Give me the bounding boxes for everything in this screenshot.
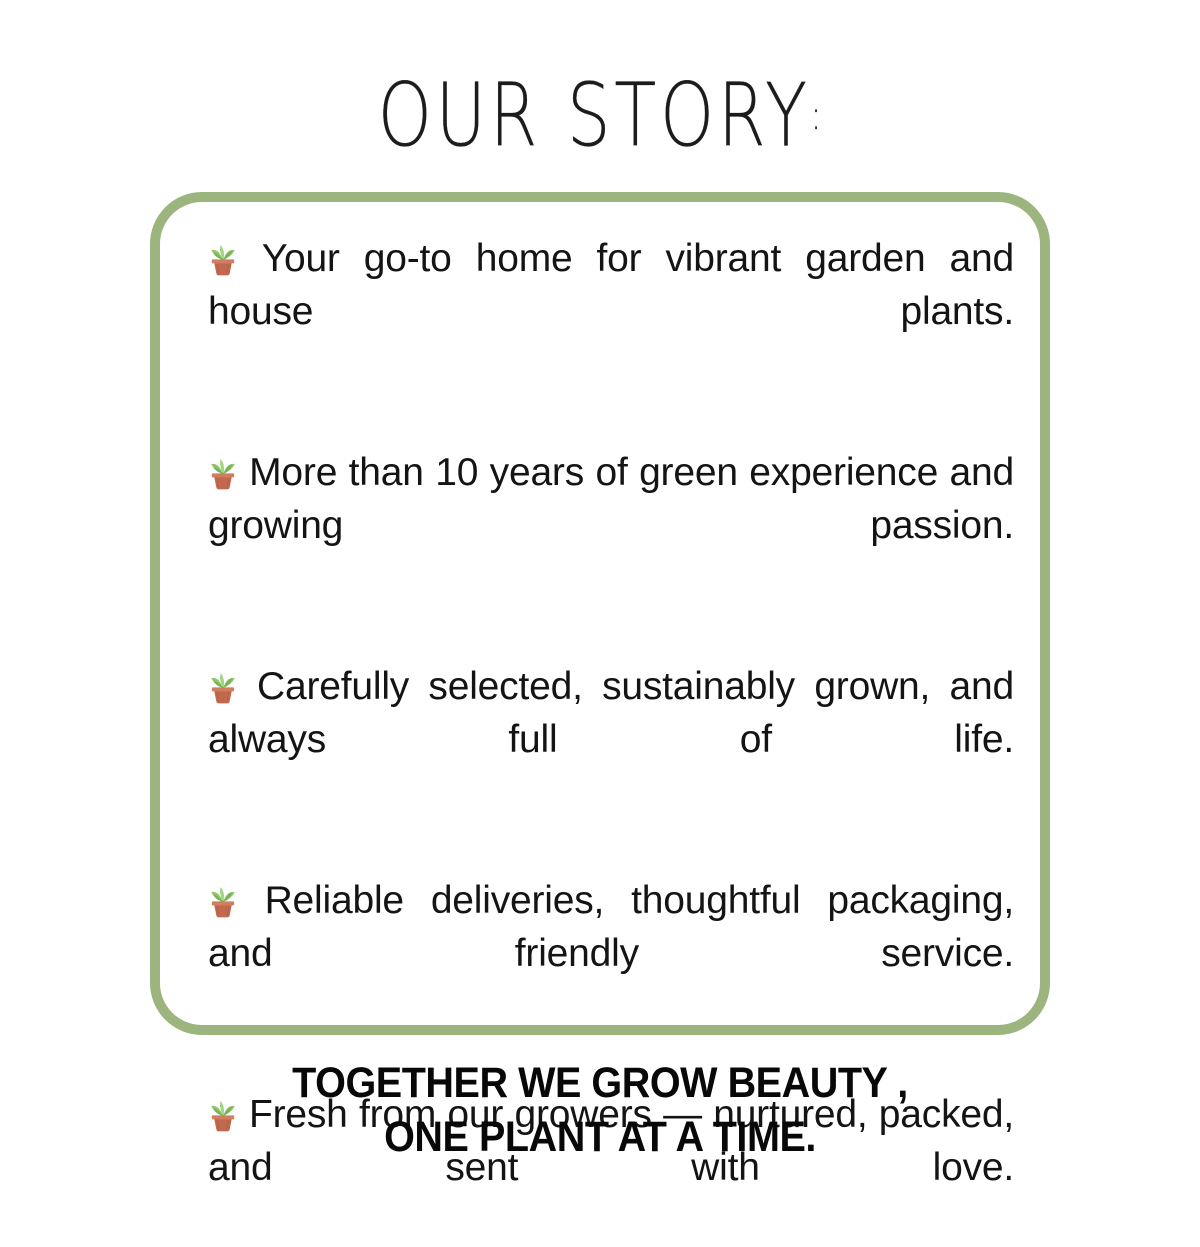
footer-line-1: TOGETHER WE GROW BEAUTY , [48,1056,1152,1110]
list-item: Reliable deliveries, thoughtful packagin… [208,874,1014,1033]
story-poster: OUR STORY: [0,0,1200,1200]
page-title-container: OUR STORY: [0,70,1200,148]
list-item-text: Carefully selected, sustainably grown, a… [208,665,1014,761]
list-item-text: More than 10 years of green experience a… [208,451,1014,547]
potted-plant-icon [208,882,265,921]
page-title-text: OUR STORY [378,65,811,166]
list-item: More than 10 years of green experience a… [208,446,1014,605]
page-title: OUR STORY: [378,70,822,162]
potted-plant-icon [208,668,257,707]
list-item: Carefully selected, sustainably grown, a… [208,660,1014,819]
page-title-colon: : [811,92,822,139]
potted-plant-icon [208,454,249,493]
footer-line-2: ONE PLANT AT A TIME. [48,1110,1152,1164]
footer-tagline: TOGETHER WE GROW BEAUTY , ONE PLANT AT A… [0,1056,1200,1164]
list-item-text: Reliable deliveries, thoughtful packagin… [208,879,1014,975]
potted-plant-icon [208,240,262,279]
list-item: Your go-to home for vibrant garden and h… [208,232,1014,391]
story-card: Your go-to home for vibrant garden and h… [150,192,1050,1035]
list-item-text: Your go-to home for vibrant garden and h… [208,237,1014,333]
